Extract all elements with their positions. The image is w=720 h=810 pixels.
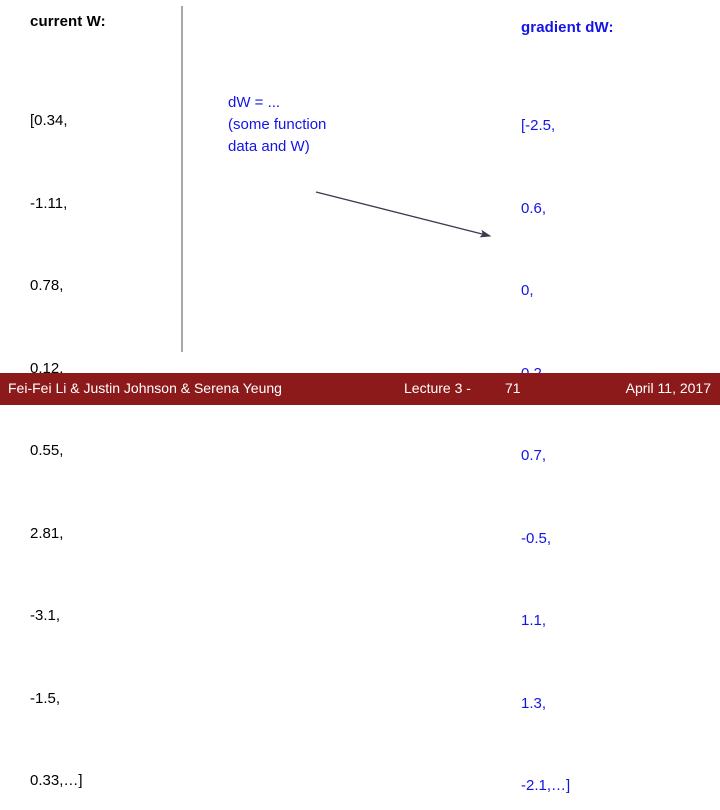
gradient-dw-value: 1.1,: [521, 607, 691, 635]
current-w-value: 0.55,: [30, 437, 175, 465]
gradient-dw-heading: gradient dW:: [521, 18, 691, 38]
annotation-line: (some function: [228, 114, 428, 136]
current-w-value: -1.11,: [30, 190, 175, 218]
current-w-panel: current W: [0.34, -1.11, 0.78, 0.12, 0.5…: [30, 12, 175, 810]
footer-authors: Fei-Fei Li & Justin Johnson & Serena Yeu…: [8, 380, 282, 396]
footer-lecture-label: Lecture 3 -: [404, 380, 471, 396]
gradient-dw-value: 0.7,: [521, 442, 691, 470]
gradient-dw-value: -2.1,…]: [521, 772, 691, 800]
current-w-value: -3.1,: [30, 602, 175, 630]
gradient-dw-value: [-2.5,: [521, 112, 691, 140]
footer-page-number: 71: [505, 380, 521, 396]
gradient-dw-value: 0.6,: [521, 195, 691, 223]
annotation-line: data and W): [228, 136, 428, 158]
current-w-value: 0.33,…]: [30, 767, 175, 795]
current-w-value: 0.78,: [30, 272, 175, 300]
gradient-dw-value: 0,: [521, 277, 691, 305]
current-w-value: [0.34,: [30, 107, 175, 135]
current-w-value: 2.81,: [30, 520, 175, 548]
gradient-dw-value-list: [-2.5, 0.6, 0, 0.2, 0.7, -0.5, 1.1, 1.3,…: [521, 57, 691, 810]
gradient-dw-panel: gradient dW: [-2.5, 0.6, 0, 0.2, 0.7, -0…: [521, 18, 691, 810]
gradient-dw-value: -0.5,: [521, 525, 691, 553]
annotation-line: dW = ...: [228, 92, 428, 114]
current-w-value: -1.5,: [30, 685, 175, 713]
current-w-heading: current W:: [30, 12, 175, 32]
gradient-formula-annotation: dW = ... (some function data and W): [228, 92, 428, 158]
gradient-dw-value: 1.3,: [521, 690, 691, 718]
current-w-value-list: [0.34, -1.11, 0.78, 0.12, 0.55, 2.81, -3…: [30, 52, 175, 810]
slide-footer: Fei-Fei Li & Justin Johnson & Serena Yeu…: [0, 373, 720, 405]
arrow-icon: [300, 180, 520, 260]
footer-date: April 11, 2017: [626, 380, 711, 396]
slide-canvas: current W: [0.34, -1.11, 0.78, 0.12, 0.5…: [0, 0, 720, 405]
vertical-divider: [181, 6, 183, 352]
